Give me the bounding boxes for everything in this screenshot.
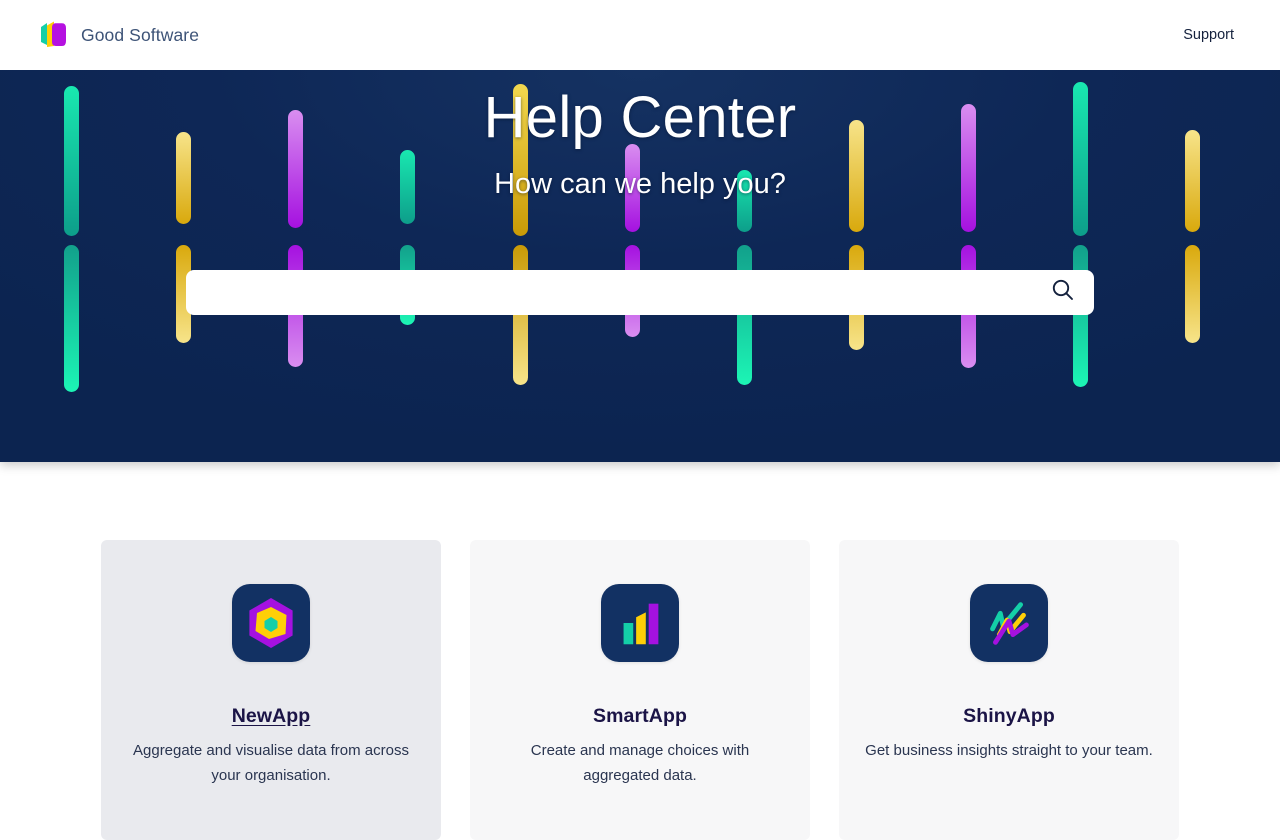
search-icon[interactable]: [1050, 277, 1076, 308]
app-card-smartapp[interactable]: SmartAppCreate and manage choices with a…: [470, 540, 810, 840]
brand-name: Good Software: [81, 25, 199, 46]
card-title: SmartApp: [593, 705, 687, 728]
line-chart-app-icon: [970, 584, 1048, 662]
site-header: Good Software Support: [0, 0, 1280, 70]
app-card-shinyapp[interactable]: ShinyAppGet business insights straight t…: [839, 540, 1179, 840]
app-card-newapp[interactable]: NewAppAggregate and visualise data from …: [101, 540, 441, 840]
search-bar[interactable]: [186, 270, 1094, 315]
logo-svg: [38, 20, 70, 50]
page-title: Help Center: [484, 86, 797, 150]
card-title: NewApp: [232, 705, 311, 728]
hero-content: Help Center How can we help you?: [0, 70, 1280, 462]
card-description: Create and manage choices with aggregate…: [494, 739, 786, 789]
app-cards: NewAppAggregate and visualise data from …: [0, 540, 1280, 840]
card-description: Get business insights straight to your t…: [865, 739, 1153, 764]
bar-chart-app-icon: [601, 584, 679, 662]
hexagon-app-icon: [232, 584, 310, 662]
stacked-books-logo-icon: [38, 20, 70, 50]
hero-section: Help Center How can we help you?: [0, 70, 1280, 462]
card-title: ShinyApp: [963, 705, 1055, 728]
brand[interactable]: Good Software: [38, 20, 199, 50]
search-input[interactable]: [206, 270, 1050, 315]
hero-subtitle: How can we help you?: [494, 168, 786, 201]
card-description: Aggregate and visualise data from across…: [125, 739, 417, 789]
support-link[interactable]: Support: [1183, 27, 1234, 43]
